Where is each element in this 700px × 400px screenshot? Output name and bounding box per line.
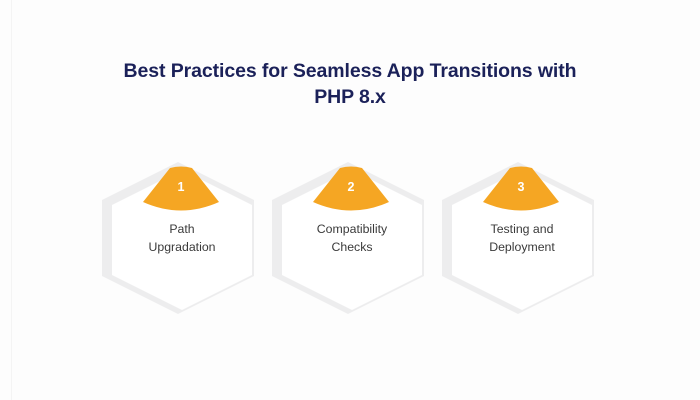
step-number-label: 2: [311, 180, 391, 194]
step-number-badge: 1: [141, 166, 221, 212]
step-label-line-2: Upgradation: [112, 238, 252, 256]
step-label-line-1: Compatibility: [282, 220, 422, 238]
steps-row: 1 Path Upgradation 2 Compatibility Check…: [0, 152, 700, 332]
step-label: Testing and Deployment: [452, 220, 592, 256]
step-label-line-2: Checks: [282, 238, 422, 256]
step-item-1[interactable]: 1 Path Upgradation: [100, 152, 260, 320]
step-label: Path Upgradation: [112, 220, 252, 256]
step-item-2[interactable]: 2 Compatibility Checks: [270, 152, 430, 320]
step-label-line-1: Testing and: [452, 220, 592, 238]
page-title: Best Practices for Seamless App Transiti…: [0, 58, 700, 110]
page-title-line-2: PHP 8.x: [0, 84, 700, 110]
infographic-canvas: Best Practices for Seamless App Transiti…: [0, 0, 700, 400]
step-number-badge: 2: [311, 166, 391, 212]
step-label-line-2: Deployment: [452, 238, 592, 256]
step-label-line-1: Path: [112, 220, 252, 238]
step-item-3[interactable]: 3 Testing and Deployment: [440, 152, 600, 320]
step-number-label: 1: [141, 180, 221, 194]
page-title-line-1: Best Practices for Seamless App Transiti…: [0, 58, 700, 84]
step-number-badge: 3: [481, 166, 561, 212]
step-number-label: 3: [481, 180, 561, 194]
step-label: Compatibility Checks: [282, 220, 422, 256]
